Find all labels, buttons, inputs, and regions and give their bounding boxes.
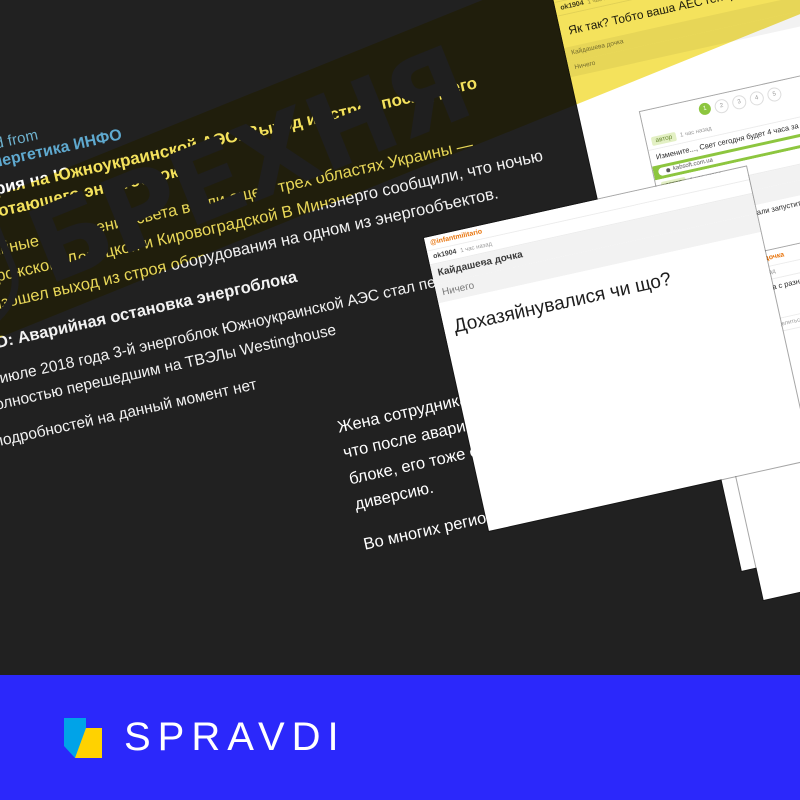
brand-bar: SPRAVDI (0, 675, 800, 800)
dark-content-area: 45% 45% автор Кайдашева дочка ok1904 1 ч… (0, 0, 800, 675)
page-3[interactable]: 3 (731, 94, 748, 111)
brand-name: SPRAVDI (124, 715, 346, 760)
page-1[interactable]: 1 (698, 102, 712, 116)
page-2[interactable]: 2 (713, 98, 730, 115)
lock-icon (666, 168, 671, 173)
timestamp-label-3: 1 час назад (679, 125, 712, 138)
page-4[interactable]: 4 (748, 90, 765, 107)
poster-canvas: 45% 45% автор Кайдашева дочка ok1904 1 ч… (0, 0, 800, 800)
spravdi-shield-logo-icon (62, 716, 104, 760)
author-badge-3: автор (651, 132, 677, 146)
page-5[interactable]: 5 (766, 86, 783, 103)
